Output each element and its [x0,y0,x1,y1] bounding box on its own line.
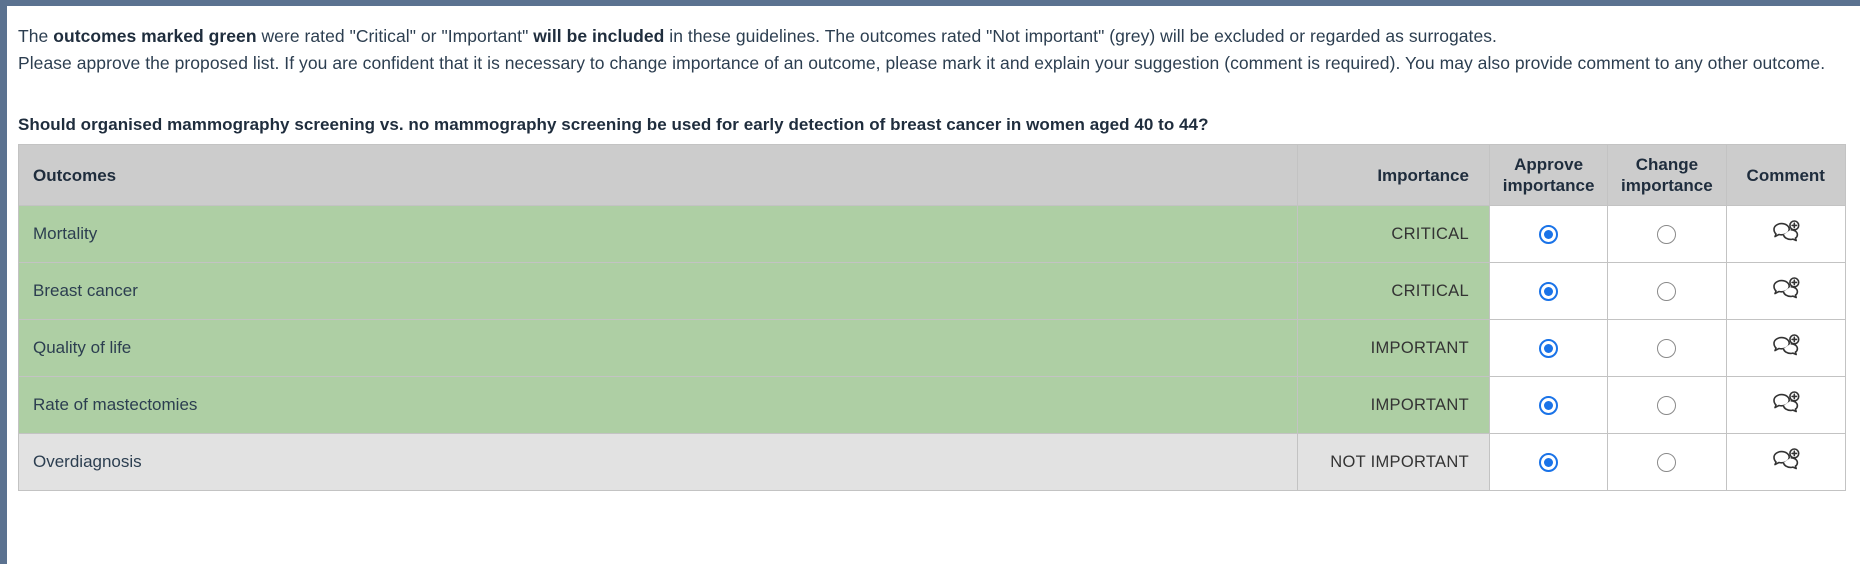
change-importance-cell[interactable] [1608,263,1726,320]
table-body: Mortality CRITICAL Breast cancer CRITICA… [19,206,1846,491]
outcome-importance: CRITICAL [1297,263,1489,320]
table-row: Breast cancer CRITICAL [19,263,1846,320]
change-importance-cell[interactable] [1608,434,1726,491]
comment-add-icon[interactable] [1771,220,1801,244]
intro-text-c: were rated "Critical" or "Important" [257,26,534,46]
page-root: The outcomes marked green were rated "Cr… [0,0,1860,564]
approve-importance-cell[interactable] [1489,263,1607,320]
change-importance-radio[interactable] [1657,225,1676,244]
table-row: Quality of life IMPORTANT [19,320,1846,377]
column-header-importance: Importance [1297,145,1489,206]
table-row: Rate of mastectomies IMPORTANT [19,377,1846,434]
outcome-importance: CRITICAL [1297,206,1489,263]
column-header-comment: Comment [1726,145,1845,206]
approve-importance-cell[interactable] [1489,320,1607,377]
change-importance-radio[interactable] [1657,396,1676,415]
change-importance-cell[interactable] [1608,320,1726,377]
outcome-name: Quality of life [19,320,1298,377]
change-header-line2: importance [1621,176,1713,195]
intro-text-e: in these guidelines. The outcomes rated … [664,26,1497,46]
outcomes-table: Outcomes Importance Approve importance C… [18,144,1846,491]
intro-line-2: Please approve the proposed list. If you… [18,53,1825,73]
approve-importance-radio[interactable] [1539,339,1558,358]
approve-header-line1: Approve [1514,155,1583,174]
approve-header-line2: importance [1503,176,1595,195]
table-row: Overdiagnosis NOT IMPORTANT [19,434,1846,491]
intro-bold-green: outcomes marked green [53,26,256,46]
change-importance-radio[interactable] [1657,453,1676,472]
approve-importance-cell[interactable] [1489,206,1607,263]
change-importance-radio[interactable] [1657,339,1676,358]
outcome-name: Breast cancer [19,263,1298,320]
comment-cell[interactable] [1726,434,1845,491]
comment-cell[interactable] [1726,320,1845,377]
column-header-outcomes: Outcomes [19,145,1298,206]
change-importance-cell[interactable] [1608,206,1726,263]
left-edge-bar [0,0,7,564]
approve-importance-cell[interactable] [1489,434,1607,491]
approve-importance-cell[interactable] [1489,377,1607,434]
change-importance-cell[interactable] [1608,377,1726,434]
approve-importance-radio[interactable] [1539,282,1558,301]
outcome-name: Rate of mastectomies [19,377,1298,434]
outcome-importance: IMPORTANT [1297,320,1489,377]
change-importance-radio[interactable] [1657,282,1676,301]
comment-add-icon[interactable] [1771,391,1801,415]
comment-add-icon[interactable] [1771,448,1801,472]
comment-cell[interactable] [1726,263,1845,320]
comment-add-icon[interactable] [1771,277,1801,301]
change-header-line1: Change [1636,155,1698,174]
intro-bold-included: will be included [533,26,664,46]
comment-add-icon[interactable] [1771,334,1801,358]
approve-importance-radio[interactable] [1539,453,1558,472]
intro-paragraph: The outcomes marked green were rated "Cr… [18,23,1848,77]
column-header-approve-importance: Approve importance [1489,145,1607,206]
approve-importance-radio[interactable] [1539,225,1558,244]
outcome-importance: NOT IMPORTANT [1297,434,1489,491]
intro-text-a: The [18,26,53,46]
column-header-change-importance: Change importance [1608,145,1726,206]
table-row: Mortality CRITICAL [19,206,1846,263]
table-header: Outcomes Importance Approve importance C… [19,145,1846,206]
comment-cell[interactable] [1726,206,1845,263]
outcome-name: Mortality [19,206,1298,263]
page-content: The outcomes marked green were rated "Cr… [7,6,1860,564]
approve-importance-radio[interactable] [1539,396,1558,415]
table-header-row: Outcomes Importance Approve importance C… [19,145,1846,206]
outcome-name: Overdiagnosis [19,434,1298,491]
comment-cell[interactable] [1726,377,1845,434]
question-heading: Should organised mammography screening v… [18,115,1860,135]
outcome-importance: IMPORTANT [1297,377,1489,434]
